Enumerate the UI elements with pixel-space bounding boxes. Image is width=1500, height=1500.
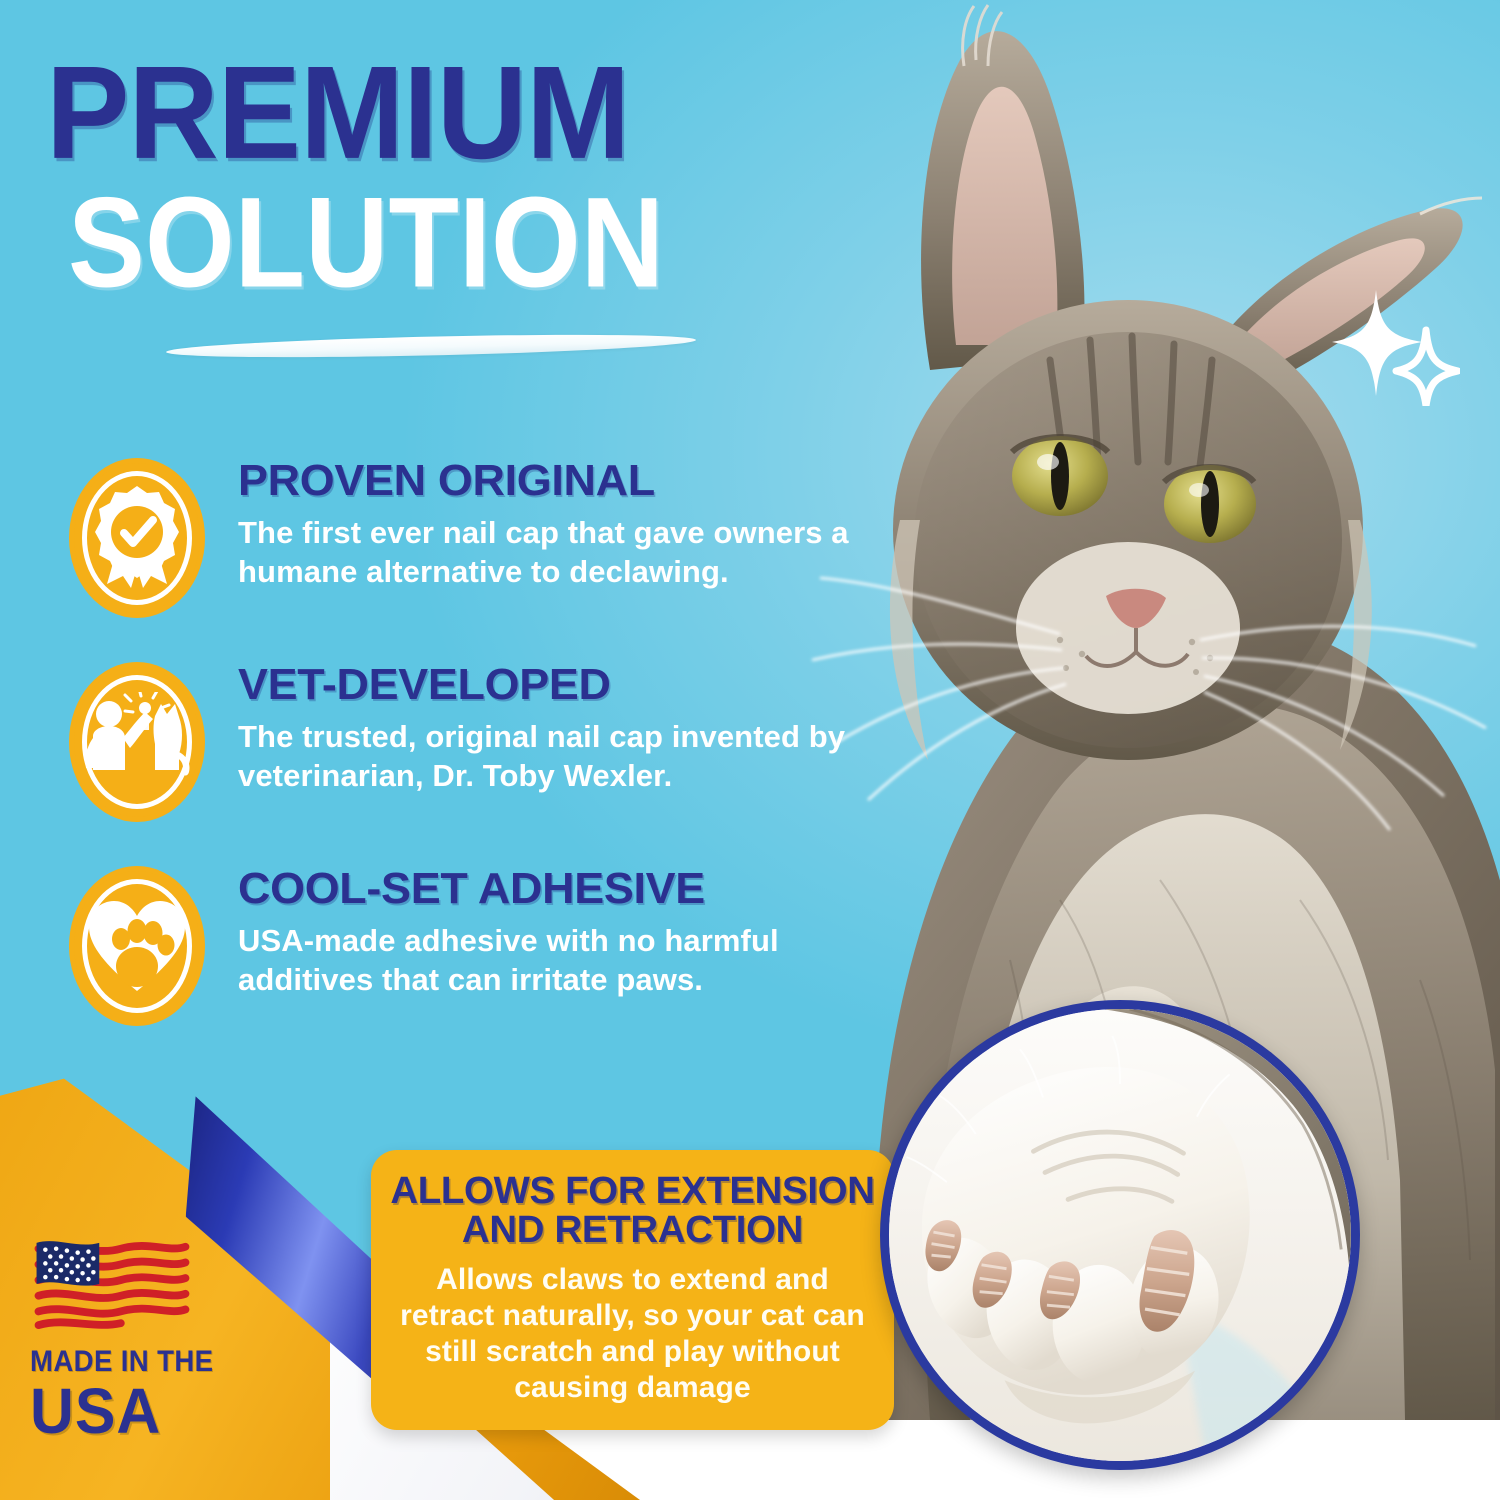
usa-badge-line1: MADE IN THE <box>30 1345 243 1379</box>
cat-paw-with-nail-caps-closeup <box>889 1009 1351 1461</box>
feature-description: The first ever nail cap that gave owners… <box>238 513 858 592</box>
feature-description: The trusted, original nail cap invented … <box>238 717 858 796</box>
usa-badge-line2: USA <box>30 1381 250 1442</box>
paw-closeup-inset <box>880 1000 1360 1470</box>
feature-item-cool-set-adhesive: COOL-SET ADHESIVE USA-made adhesive with… <box>58 863 858 1029</box>
sparkle-stars-icon <box>1330 286 1460 411</box>
feature-item-vet-developed: VET-DEVELOPED The trusted, original nail… <box>58 659 858 825</box>
heart-paw-icon <box>58 863 216 1029</box>
feature-title: COOL-SET ADHESIVE <box>238 867 870 911</box>
feature-description: USA-made adhesive with no harmful additi… <box>238 921 858 1000</box>
award-ribbon-icon <box>58 455 216 621</box>
headline-premium: PREMIUM <box>46 56 926 172</box>
headline-block: PREMIUM SOLUTION <box>46 56 876 357</box>
headline-solution: SOLUTION <box>68 186 900 301</box>
feature-item-proven-original: PROVEN ORIGINAL The first ever nail cap … <box>58 455 858 621</box>
headline-underline-lens <box>166 330 696 361</box>
vet-high-five-cat-icon <box>58 659 216 825</box>
feature-title: PROVEN ORIGINAL <box>238 459 870 503</box>
callout-title-line1: ALLOWS FOR EXTENSION <box>387 1172 879 1211</box>
feature-list: PROVEN ORIGINAL The first ever nail cap … <box>58 455 858 1067</box>
callout-title: ALLOWS FOR EXTENSION AND RETRACTION <box>387 1172 879 1250</box>
made-in-usa-badge: MADE IN THE USA <box>22 1235 262 1442</box>
usa-flag-icon <box>32 1235 190 1331</box>
feature-title: VET-DEVELOPED <box>238 663 870 707</box>
callout-title-line2: AND RETRACTION <box>387 1211 879 1250</box>
callout-description: Allows claws to extend and retract natur… <box>389 1262 876 1406</box>
product-infographic-poster: PREMIUM SOLUTION PROVEN ORIGINAL The fir… <box>0 0 1500 1500</box>
extension-retraction-callout: ALLOWS FOR EXTENSION AND RETRACTION Allo… <box>371 1150 894 1430</box>
